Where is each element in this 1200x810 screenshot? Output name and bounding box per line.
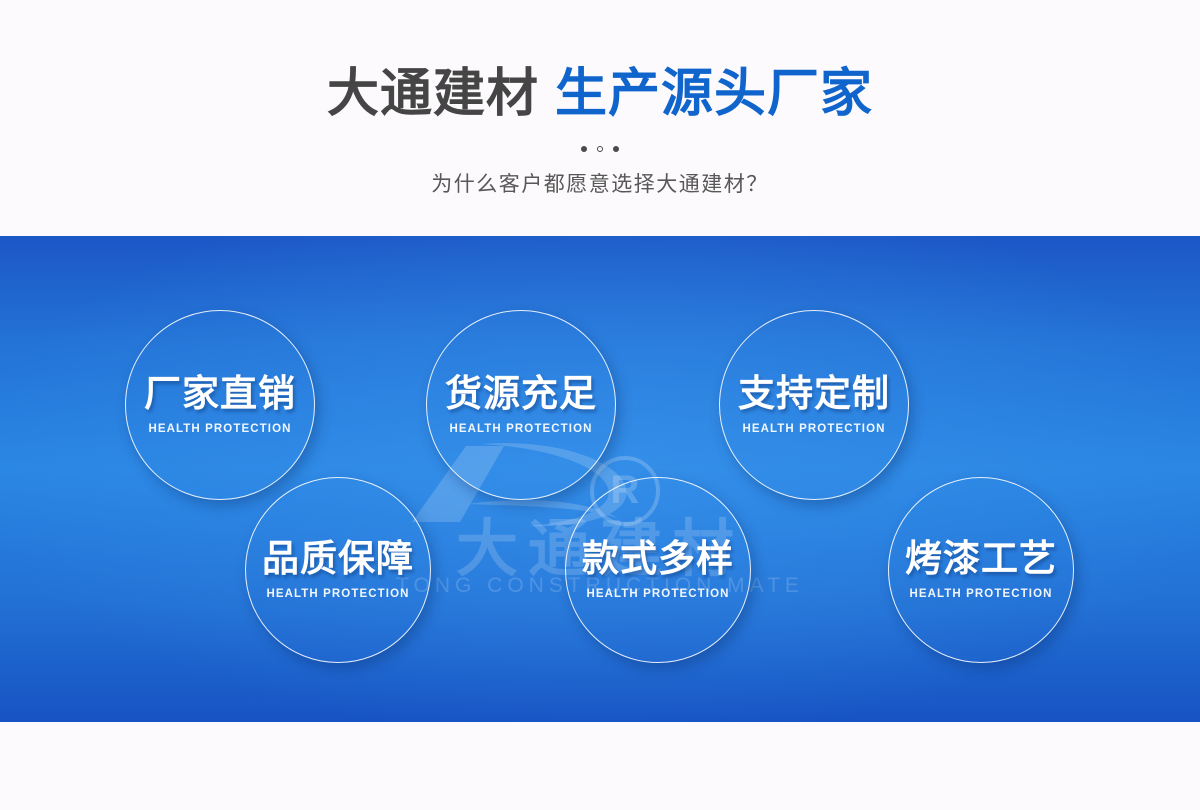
feature-circle[interactable]: 款式多样HEALTH PROTECTION	[565, 477, 751, 663]
feature-circle[interactable]: 支持定制HEALTH PROTECTION	[719, 310, 909, 500]
feature-title: 品质保障	[262, 540, 414, 579]
brand-name: 大通建材	[327, 65, 539, 123]
feature-title: 支持定制	[738, 375, 890, 414]
feature-circle[interactable]: 货源充足HEALTH PROTECTION	[426, 310, 616, 500]
feature-title: 厂家直销	[144, 375, 296, 414]
feature-circle[interactable]: 品质保障HEALTH PROTECTION	[245, 477, 431, 663]
feature-circle-content: 货源充足HEALTH PROTECTION	[427, 311, 615, 499]
dot-hollow-icon	[597, 146, 603, 152]
feature-title: 款式多样	[582, 540, 734, 579]
dot-filled-icon	[613, 146, 619, 152]
feature-subtitle: HEALTH PROTECTION	[586, 588, 729, 600]
features-panel: R 大通建材 TONG CONSTRUCTION MATE 厂家直销HEALTH…	[0, 236, 1200, 722]
feature-circle[interactable]: 厂家直销HEALTH PROTECTION	[125, 310, 315, 500]
feature-circle-content: 烤漆工艺HEALTH PROTECTION	[889, 478, 1073, 662]
dot-filled-icon	[581, 146, 587, 152]
feature-title: 货源充足	[445, 375, 597, 414]
dot-separator	[0, 146, 1200, 152]
feature-circle-content: 厂家直销HEALTH PROTECTION	[126, 311, 314, 499]
page-subtitle: 为什么客户都愿意选择大通建材？	[0, 168, 1200, 198]
page-title: 大通建材生产源头厂家	[0, 68, 1200, 120]
feature-title: 烤漆工艺	[905, 540, 1057, 579]
feature-subtitle: HEALTH PROTECTION	[742, 423, 885, 435]
headline-accent: 生产源头厂家	[555, 65, 873, 123]
feature-circle-content: 品质保障HEALTH PROTECTION	[246, 478, 430, 662]
feature-circle-content: 支持定制HEALTH PROTECTION	[720, 311, 908, 499]
feature-subtitle: HEALTH PROTECTION	[909, 588, 1052, 600]
feature-subtitle: HEALTH PROTECTION	[266, 588, 409, 600]
feature-circle-content: 款式多样HEALTH PROTECTION	[566, 478, 750, 662]
feature-subtitle: HEALTH PROTECTION	[449, 423, 592, 435]
header-section: 大通建材生产源头厂家 为什么客户都愿意选择大通建材？	[0, 0, 1200, 236]
feature-circle[interactable]: 烤漆工艺HEALTH PROTECTION	[888, 477, 1074, 663]
promo-banner: 大通建材生产源头厂家 为什么客户都愿意选择大通建材？ R 大通建材 TONG C…	[0, 0, 1200, 810]
feature-subtitle: HEALTH PROTECTION	[148, 423, 291, 435]
